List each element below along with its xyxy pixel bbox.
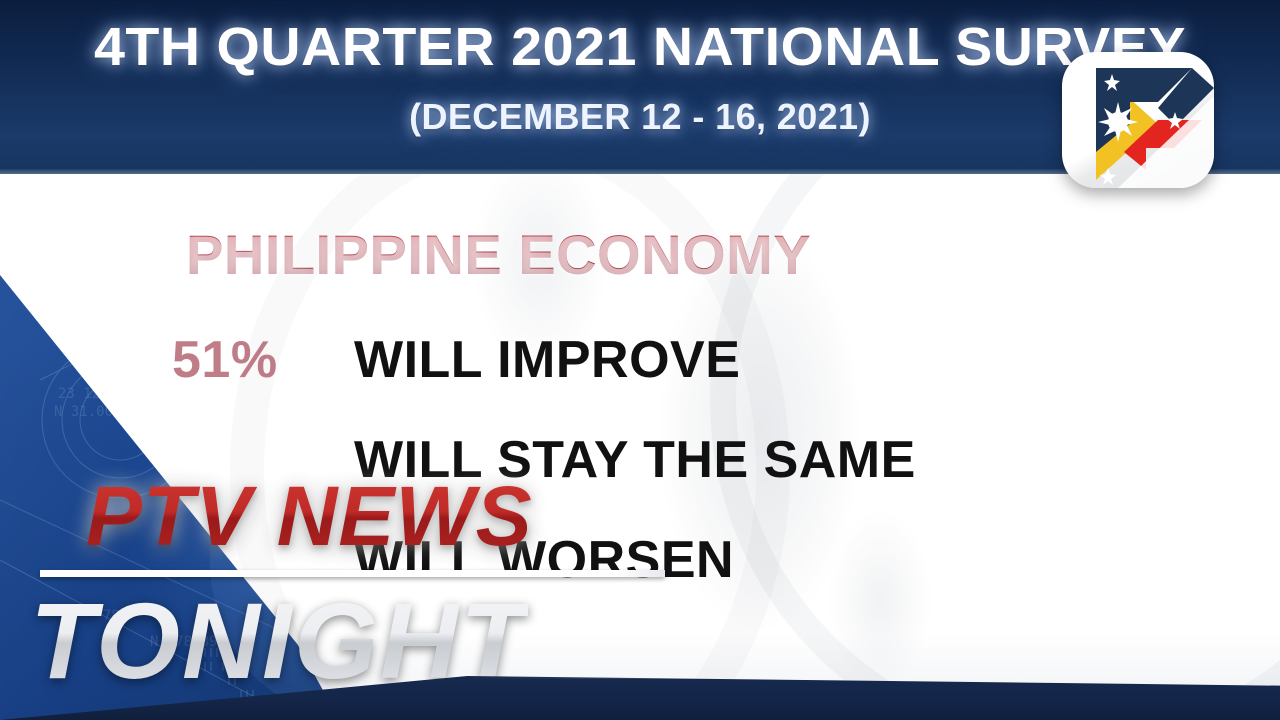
survey-category-heading: PHILIPPINE ECONOMY (186, 222, 811, 287)
survey-result-row: 51% WILL IMPROVE (172, 330, 1172, 430)
broadcast-screen: 4TH QUARTER 2021 NATIONAL SURVEY (DECEMB… (0, 0, 1280, 720)
survey-results-list: 51% WILL IMPROVE WILL STAY THE SAME WILL… (172, 330, 1172, 630)
result-label: WILL WORSEN (354, 530, 734, 590)
ptv-logo-badge (1062, 52, 1214, 188)
result-percent: 51% (172, 330, 354, 390)
ptv-philippines-flag-icon (1062, 52, 1214, 188)
result-label: WILL STAY THE SAME (354, 430, 916, 490)
survey-result-row: WILL STAY THE SAME (172, 430, 1172, 530)
survey-result-row: WILL WORSEN (172, 530, 1172, 630)
result-label: WILL IMPROVE (354, 330, 740, 390)
